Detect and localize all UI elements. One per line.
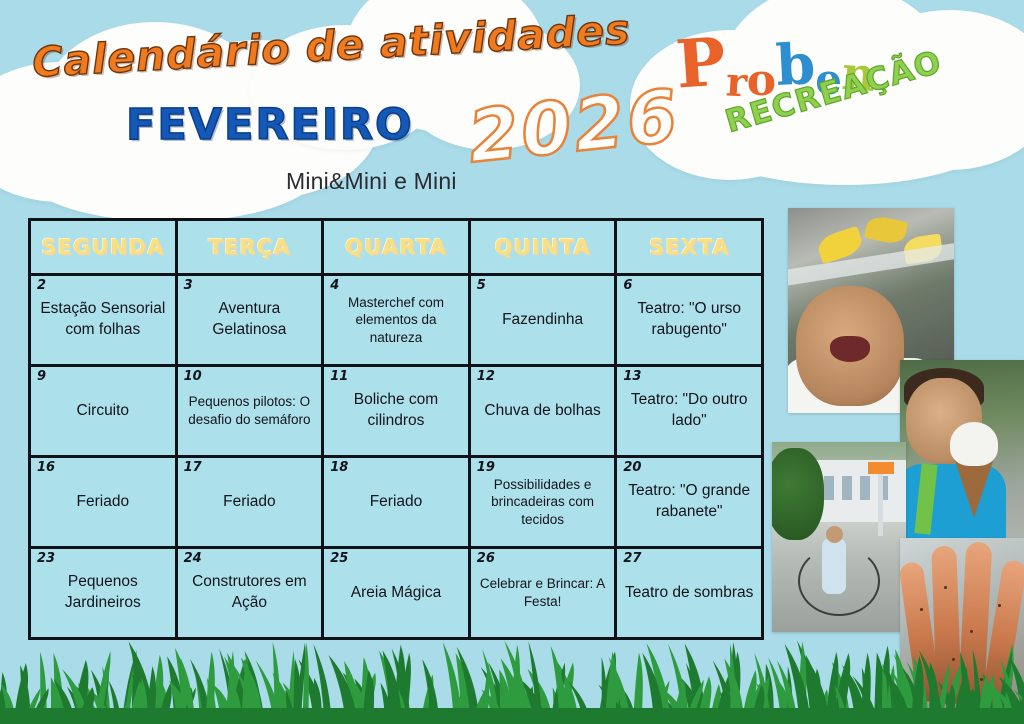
calendar-day-cell[interactable]: 6Teatro: "O urso rabugento" (616, 275, 763, 366)
calendar-header-cell: QUARTA (323, 220, 470, 275)
activities-calendar-table: SEGUNDA TERÇA QUARTA QUINTA SEXTA 2Estaç… (28, 218, 764, 640)
activity-text: Chuva de bolhas (471, 397, 615, 426)
calendar-day-cell[interactable]: 20Teatro: "O grande rabanete" (616, 457, 763, 548)
day-number: 25 (330, 552, 348, 565)
calendar-day-cell[interactable]: 5Fazendinha (469, 275, 616, 366)
photo-boy-with-ice-cream (900, 360, 1024, 560)
calendar-day-cell[interactable]: 2Estação Sensorial com folhas (30, 275, 177, 366)
calendar-day-cell[interactable]: 25Areia Mágica (323, 548, 470, 639)
day-number: 5 (477, 279, 486, 292)
calendar-week-row: 9Circuito10Pequenos pilotos: O desafio d… (30, 366, 763, 457)
calendar-day-cell[interactable]: 16Feriado (30, 457, 177, 548)
calendar-day-cell[interactable]: 4Masterchef com elementos da natureza (323, 275, 470, 366)
calendar-day-cell[interactable]: 24Construtores em Ação (176, 548, 323, 639)
day-number: 11 (330, 370, 348, 383)
calendar-day-cell[interactable]: 13Teatro: "Do outro lado" (616, 366, 763, 457)
calendar-day-cell[interactable]: 3Aventura Gelatinosa (176, 275, 323, 366)
day-number: 13 (623, 370, 641, 383)
calendar-day-cell[interactable]: 9Circuito (30, 366, 177, 457)
day-number: 24 (184, 552, 202, 565)
day-number: 10 (184, 370, 202, 383)
activity-text: Pequenos pilotos: O desafio do semáforo (178, 389, 322, 432)
day-number: 2 (37, 279, 46, 292)
calendar-day-cell[interactable]: 11Boliche com cilindros (323, 366, 470, 457)
day-number: 17 (184, 461, 202, 474)
activity-text: Masterchef com elementos da natureza (324, 290, 468, 351)
day-number: 20 (623, 461, 641, 474)
day-number: 4 (330, 279, 339, 292)
activity-text: Fazendinha (471, 306, 615, 335)
activity-text: Feriado (324, 488, 468, 517)
weekday-label: QUINTA (494, 235, 590, 259)
logo-letter-p: P (674, 28, 728, 97)
activity-text: Feriado (178, 488, 322, 517)
weekday-label: SEXTA (649, 235, 730, 259)
activity-text: Aventura Gelatinosa (178, 295, 322, 344)
activity-text: Teatro: "O urso rabugento" (617, 295, 761, 344)
activity-text: Circuito (31, 397, 175, 426)
calendar-day-cell[interactable]: 23Pequenos Jardineiros (30, 548, 177, 639)
day-number: 26 (477, 552, 495, 565)
calendar-body: 2Estação Sensorial com folhas3Aventura G… (30, 275, 763, 639)
logo-letter-r: r (725, 62, 748, 103)
day-number: 27 (623, 552, 641, 565)
activity-text: Areia Mágica (324, 579, 468, 608)
calendar-day-cell[interactable]: 17Feriado (176, 457, 323, 548)
day-number: 9 (37, 370, 46, 383)
activity-text: Construtores em Ação (178, 568, 322, 617)
activity-text: Celebrar e Brincar: A Festa! (471, 571, 615, 614)
group-label: Mini&Mini e Mini (286, 168, 457, 195)
activity-text: Teatro de sombras (617, 579, 761, 608)
calendar-week-row: 2Estação Sensorial com folhas3Aventura G… (30, 275, 763, 366)
poster-canvas: Calendário de atividades FEVEREIRO 2026 … (0, 0, 1024, 724)
activity-text: Boliche com cilindros (324, 386, 468, 435)
day-number: 18 (330, 461, 348, 474)
day-number: 16 (37, 461, 55, 474)
calendar-header-row: SEGUNDA TERÇA QUARTA QUINTA SEXTA (30, 220, 763, 275)
weekday-label: QUARTA (345, 235, 447, 259)
calendar-day-cell[interactable]: 19Possibilidades e brincadeiras com teci… (469, 457, 616, 548)
calendar-day-cell[interactable]: 10Pequenos pilotos: O desafio do semáfor… (176, 366, 323, 457)
activity-text: Feriado (31, 488, 175, 517)
calendar-day-cell[interactable]: 26Celebrar e Brincar: A Festa! (469, 548, 616, 639)
day-number: 23 (37, 552, 55, 565)
day-number: 12 (477, 370, 495, 383)
month-title: FEVEREIRO (126, 100, 414, 150)
calendar-header-cell: SEGUNDA (30, 220, 177, 275)
day-number: 3 (184, 279, 193, 292)
activity-text: Teatro: "Do outro lado" (617, 386, 761, 435)
day-number: 6 (623, 279, 632, 292)
weekday-label: SEGUNDA (41, 235, 164, 259)
activity-text: Estação Sensorial com folhas (31, 295, 175, 344)
calendar-day-cell[interactable]: 18Feriado (323, 457, 470, 548)
grass-decoration (0, 634, 1024, 724)
calendar-week-row: 16Feriado17Feriado18Feriado19Possibilida… (30, 457, 763, 548)
calendar-week-row: 23Pequenos Jardineiros24Construtores em … (30, 548, 763, 639)
day-number: 19 (477, 461, 495, 474)
activity-text: Pequenos Jardineiros (31, 568, 175, 617)
activity-text: Possibilidades e brincadeiras com tecido… (471, 472, 615, 533)
activity-text: Teatro: "O grande rabanete" (617, 477, 761, 526)
weekday-label: TERÇA (208, 235, 291, 259)
calendar-header-cell: SEXTA (616, 220, 763, 275)
photo-child-jumping-rope (772, 442, 906, 632)
calendar-day-cell[interactable]: 27Teatro de sombras (616, 548, 763, 639)
calendar-day-cell[interactable]: 12Chuva de bolhas (469, 366, 616, 457)
calendar-header-cell: QUINTA (469, 220, 616, 275)
calendar-header-cell: TERÇA (176, 220, 323, 275)
